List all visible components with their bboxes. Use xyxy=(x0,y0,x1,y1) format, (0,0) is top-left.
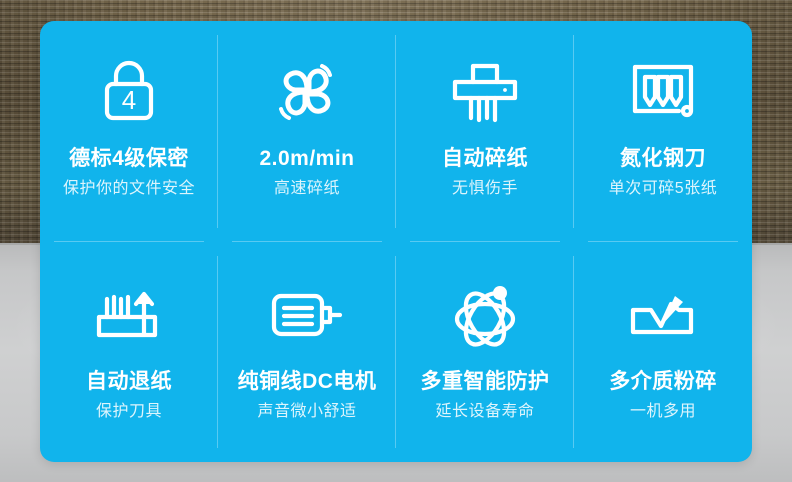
steel-blades-icon xyxy=(625,53,701,131)
feature-title: 自动退纸 xyxy=(86,370,172,394)
feature-title: 多介质粉碎 xyxy=(609,370,717,394)
feature-cell-multi-media[interactable]: 多介质粉碎 一机多用 xyxy=(574,242,752,463)
feature-subtitle: 延长设备寿命 xyxy=(435,403,534,421)
svg-text:4: 4 xyxy=(122,85,136,115)
feature-subtitle: 高速碎纸 xyxy=(274,180,340,198)
feature-cell-auto-reverse[interactable]: 自动退纸 保护刀具 xyxy=(40,242,218,463)
paper-shredder-icon xyxy=(445,53,525,131)
feature-cell-speed[interactable]: 2.0m/min 高速碎纸 xyxy=(218,21,396,242)
dc-motor-icon xyxy=(266,276,348,354)
poster-stage: 4 德标4级保密 保护你的文件安全 2.0m/min xyxy=(0,0,792,482)
feature-cell-auto-shred[interactable]: 自动碎纸 无惧伤手 xyxy=(396,21,574,242)
feature-cell-security[interactable]: 4 德标4级保密 保护你的文件安全 xyxy=(40,21,218,242)
padlock-level4-icon: 4 xyxy=(93,53,165,131)
feature-subtitle: 单次可碎5张纸 xyxy=(609,180,717,198)
feature-subtitle: 无惧伤手 xyxy=(452,180,518,198)
multi-media-shred-icon xyxy=(623,276,703,354)
feature-panel: 4 德标4级保密 保护你的文件安全 2.0m/min xyxy=(40,21,752,462)
atom-protection-icon xyxy=(447,276,523,354)
feature-title: 多重智能防护 xyxy=(421,370,550,394)
feature-title: 德标4级保密 xyxy=(69,147,189,171)
feature-subtitle: 保护你的文件安全 xyxy=(63,180,195,198)
feature-cell-motor[interactable]: 纯铜线DC电机 声音微小舒适 xyxy=(218,242,396,463)
fan-blades-icon xyxy=(269,53,345,131)
feature-subtitle: 保护刀具 xyxy=(96,403,162,421)
feature-title: 2.0m/min xyxy=(259,147,354,171)
feature-title: 自动碎纸 xyxy=(442,147,528,171)
feature-title: 氮化钢刀 xyxy=(620,147,706,171)
feature-subtitle: 一机多用 xyxy=(630,403,696,421)
feature-cell-blades[interactable]: 氮化钢刀 单次可碎5张纸 xyxy=(574,21,752,242)
feature-cell-protection[interactable]: 多重智能防护 延长设备寿命 xyxy=(396,242,574,463)
feature-subtitle: 声音微小舒适 xyxy=(257,403,356,421)
feature-title: 纯铜线DC电机 xyxy=(238,370,377,394)
paper-eject-icon xyxy=(89,276,169,354)
